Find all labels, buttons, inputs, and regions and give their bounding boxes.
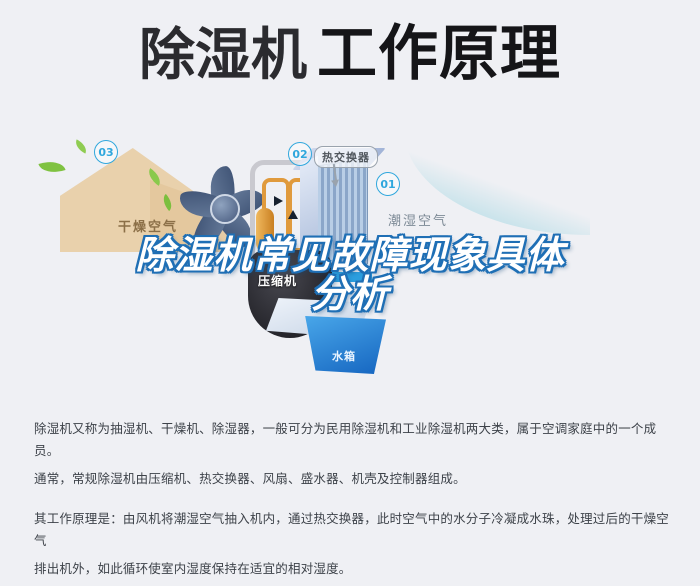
- body-paragraph-4: 排出机外，如此循环使室内湿度保持在适宜的相对湿度。: [34, 558, 674, 580]
- humid-air-swoosh-icon: [404, 130, 590, 280]
- water-tank-icon: [300, 316, 386, 374]
- diagram-badge-03: 03: [94, 140, 118, 164]
- dry-air-label: 干燥空气: [118, 216, 178, 235]
- compressor-label: 压缩机: [258, 272, 297, 289]
- leaf-icon: [73, 139, 90, 153]
- body-copy: 除湿机又称为抽湿机、干燥机、除湿器，一般可分为民用除湿机和工业除湿机两大类，属于…: [34, 418, 674, 586]
- water-tank-label: 水箱: [332, 348, 356, 364]
- diagram-badge-01: 01: [376, 172, 400, 196]
- page-root: 除湿机 工作原理 干燥空气: [0, 0, 700, 566]
- dehumidifier-diagram: 干燥空气 压缩机 水箱 热交换器: [0, 120, 700, 395]
- body-paragraph-3: 其工作原理是：由风机将潮湿空气抽入机内，通过热交换器，此时空气中的水分子冷凝成水…: [34, 508, 674, 552]
- heat-exchanger-callout: 热交换器: [314, 146, 378, 168]
- humid-air-label: 潮湿空气: [388, 210, 448, 229]
- page-title-part2: 工作原理: [317, 24, 561, 84]
- page-title: 除湿机 工作原理: [0, 24, 700, 84]
- body-paragraph-1: 除湿机又称为抽湿机、干燥机、除湿器，一般可分为民用除湿机和工业除湿机两大类，属于…: [34, 418, 674, 462]
- leaf-icon: [38, 157, 65, 178]
- air-intake-arrow-icon: [326, 272, 372, 282]
- body-paragraph-2: 通常，常规除湿机由压缩机、热交换器、风扇、盛水器、机壳及控制器组成。: [34, 468, 674, 490]
- diagram-badge-02: 02: [288, 142, 312, 166]
- page-title-part1: 除湿机: [139, 28, 307, 84]
